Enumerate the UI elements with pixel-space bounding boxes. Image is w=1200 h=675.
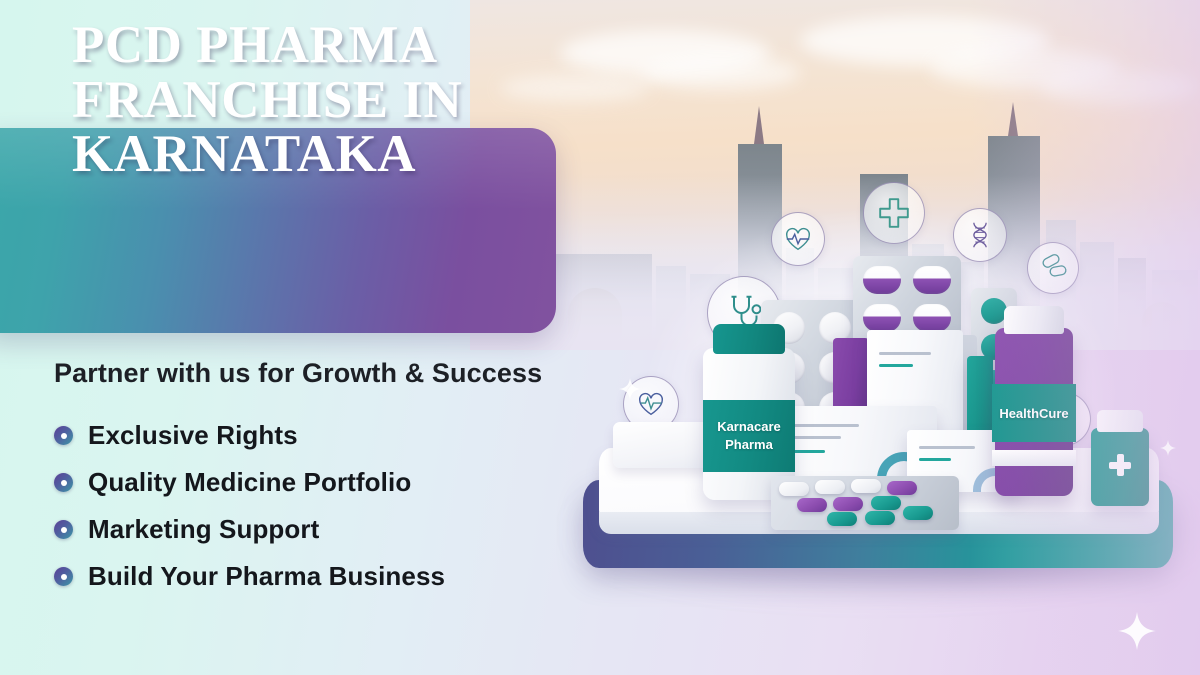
- bottle-cap: [713, 324, 785, 354]
- bullet-dot-icon: [54, 473, 73, 492]
- title-line-3: KARNATAKA: [72, 127, 542, 182]
- benefits-list: Exclusive Rights Quality Medicine Portfo…: [54, 412, 574, 600]
- pharma-franchise-banner: PCD PHARMA FRANCHISE IN KARNATAKA Partne…: [0, 0, 1200, 675]
- list-item: Build Your Pharma Business: [54, 553, 574, 600]
- bottle-label: HealthCure: [992, 384, 1076, 442]
- bottle-cap: [1097, 410, 1143, 432]
- capsule-tray: [771, 476, 959, 530]
- subtitle: Partner with us for Growth & Success: [54, 358, 542, 389]
- list-item: Quality Medicine Portfolio: [54, 459, 574, 506]
- medical-cross-icon: [863, 182, 925, 244]
- title-line-2: FRANCHISE IN: [72, 73, 542, 128]
- sparkle-icon: [1160, 440, 1176, 456]
- sparkle-icon: [619, 378, 641, 400]
- bullet-dot-icon: [54, 520, 73, 539]
- list-item: Marketing Support: [54, 506, 574, 553]
- bottle-label-line-2: Pharma: [725, 436, 773, 454]
- heartbeat-icon: [771, 212, 825, 266]
- title-line-1: PCD PHARMA: [72, 18, 542, 73]
- list-item-label: Exclusive Rights: [88, 420, 298, 451]
- capsules-icon: [1027, 242, 1079, 294]
- bottle-label: Karnacare Pharma: [703, 400, 795, 472]
- sparkle-icon: [1118, 612, 1156, 650]
- list-item: Exclusive Rights: [54, 412, 574, 459]
- list-item-label: Quality Medicine Portfolio: [88, 467, 411, 498]
- bottle-label-line-1: Karnacare: [717, 418, 781, 436]
- list-item-label: Marketing Support: [88, 514, 319, 545]
- bottle-cap: [1004, 306, 1064, 334]
- medical-cross-icon: [1109, 454, 1131, 476]
- list-item-label: Build Your Pharma Business: [88, 561, 445, 592]
- first-aid-bottle: [1091, 428, 1149, 506]
- dna-helix-icon: [953, 208, 1007, 262]
- bullet-dot-icon: [54, 567, 73, 586]
- bullet-dot-icon: [54, 426, 73, 445]
- bottle-stripe: [992, 450, 1076, 466]
- healthcure-bottle: HealthCure: [995, 328, 1073, 496]
- pharma-product-scene: Karnacare Pharma HealthCure: [575, 180, 1200, 610]
- page-title: PCD PHARMA FRANCHISE IN KARNATAKA: [72, 18, 542, 182]
